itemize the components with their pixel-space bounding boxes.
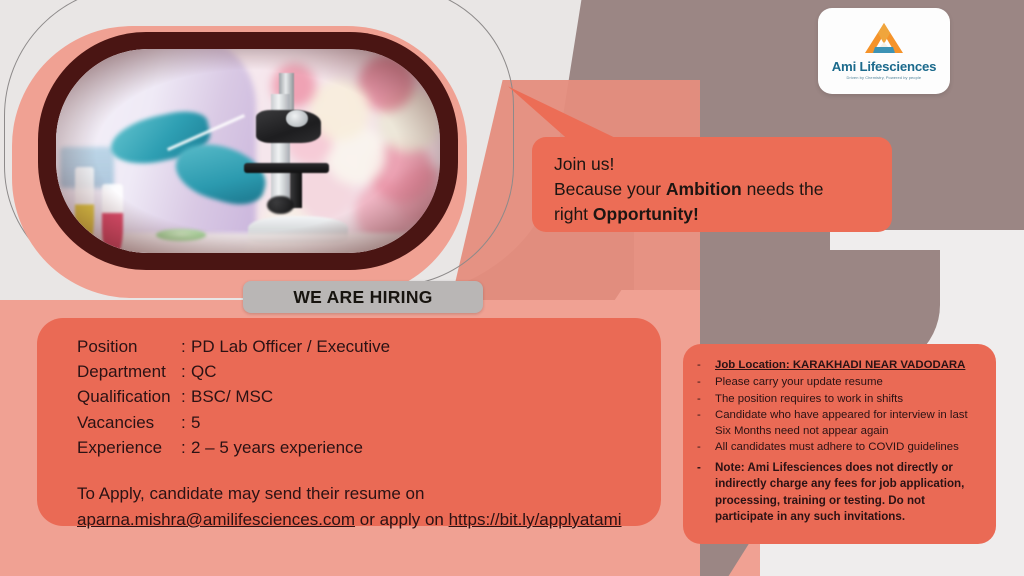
bubble-line-3-text-a: right <box>554 204 593 224</box>
job-details-card: Position : PD Lab Officer / Executive De… <box>37 318 661 526</box>
bullet-dash: - <box>697 440 701 455</box>
company-logo-name: Ami Lifesciences <box>832 59 937 74</box>
list-item: - The position requires to work in shift… <box>693 392 982 407</box>
apply-url-link[interactable]: https://bit.ly/applyatami <box>449 510 622 529</box>
we-are-hiring-banner: WE ARE HIRING <box>243 281 483 313</box>
bubble-ambition-word: Ambition <box>666 179 742 199</box>
apply-middle-text: or apply on <box>355 510 449 529</box>
bubble-opportunity-word: Opportunity! <box>593 204 699 224</box>
list-item: - Candidate who have appeared for interv… <box>693 408 982 439</box>
bubble-line-2: Because your Ambition needs the <box>554 177 870 202</box>
row-label: Experience <box>61 436 181 461</box>
bullet-dash: - <box>697 375 701 390</box>
note-disclaimer-text: Note: Ami Lifesciences does not directly… <box>715 461 964 523</box>
bullet-dash: - <box>697 392 701 407</box>
hiring-poster: WE ARE HIRING Join us! Because your Ambi… <box>0 0 1024 576</box>
row-label: Qualification <box>61 385 181 410</box>
job-details-rows: Position : PD Lab Officer / Executive De… <box>61 334 390 461</box>
list-item: - Note: Ami Lifesciences does not direct… <box>693 460 982 526</box>
bubble-line-2-text-a: Because your <box>554 179 666 199</box>
list-item: - All candidates must adhere to COVID gu… <box>693 440 982 455</box>
row-value: 2 – 5 years experience <box>191 436 390 461</box>
note-text: Candidate who have appeared for intervie… <box>715 409 968 436</box>
row-colon: : <box>181 334 191 359</box>
row-colon: : <box>181 436 191 461</box>
triangle-a-logo-icon <box>862 22 906 56</box>
job-location-text: Job Location: KARAKHADI NEAR VADODARA <box>715 359 965 371</box>
row-value: BSC/ MSC <box>191 385 390 410</box>
row-label: Position <box>61 334 181 359</box>
lab-photo-frame <box>38 32 458 270</box>
row-colon: : <box>181 410 191 435</box>
row-value: QC <box>191 359 390 384</box>
speech-bubble: Join us! Because your Ambition needs the… <box>532 137 892 232</box>
apply-email-link[interactable]: aparna.mishra@amilifesciences.com <box>77 510 355 529</box>
lab-microscope-photo <box>56 49 440 253</box>
row-colon: : <box>181 359 191 384</box>
company-logo-card: Ami Lifesciences Driven by Chemistry, Po… <box>818 8 950 94</box>
apply-instructions: To Apply, candidate may send their resum… <box>61 481 637 532</box>
apply-line-1: To Apply, candidate may send their resum… <box>77 481 637 507</box>
bullet-dash: - <box>697 408 701 423</box>
table-row: Department : QC <box>61 359 390 384</box>
note-text: The position requires to work in shifts <box>715 393 903 405</box>
bubble-line-1: Join us! <box>554 152 870 177</box>
bullet-dash: - <box>697 460 701 476</box>
company-logo-tagline: Driven by Chemistry, Powered by people <box>847 75 922 80</box>
list-item: - Please carry your update resume <box>693 375 982 390</box>
we-are-hiring-label: WE ARE HIRING <box>293 287 432 308</box>
table-row: Position : PD Lab Officer / Executive <box>61 334 390 359</box>
notes-card: - Job Location: KARAKHADI NEAR VADODARA … <box>683 344 996 544</box>
photo-vignette <box>56 49 440 253</box>
note-text: All candidates must adhere to COVID guid… <box>715 441 959 453</box>
note-text: Please carry your update resume <box>715 376 883 388</box>
bubble-line-3: right Opportunity! <box>554 202 870 227</box>
apply-line-2: aparna.mishra@amilifesciences.com or app… <box>77 507 637 533</box>
row-value: 5 <box>191 410 390 435</box>
bullet-dash: - <box>697 358 701 373</box>
row-colon: : <box>181 385 191 410</box>
job-details-table: Position : PD Lab Officer / Executive De… <box>61 334 390 461</box>
list-item: - Job Location: KARAKHADI NEAR VADODARA <box>693 358 982 373</box>
notes-list: - Job Location: KARAKHADI NEAR VADODARA … <box>693 358 982 526</box>
table-row: Experience : 2 – 5 years experience <box>61 436 390 461</box>
table-row: Vacancies : 5 <box>61 410 390 435</box>
row-value: PD Lab Officer / Executive <box>191 334 390 359</box>
bubble-line-2-text-b: needs the <box>742 179 824 199</box>
row-label: Vacancies <box>61 410 181 435</box>
row-label: Department <box>61 359 181 384</box>
table-row: Qualification : BSC/ MSC <box>61 385 390 410</box>
